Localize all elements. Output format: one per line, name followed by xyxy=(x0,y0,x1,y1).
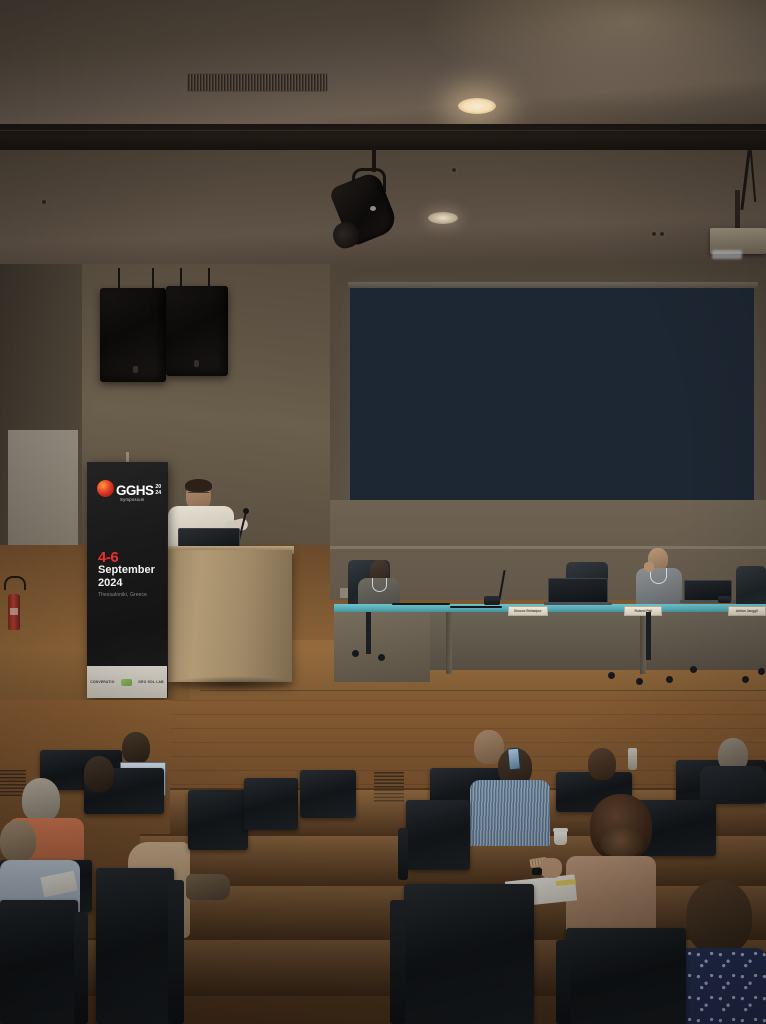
chair-caster xyxy=(608,672,615,679)
pa-speaker-badge xyxy=(194,360,199,367)
banner-sponsor-2-mark xyxy=(121,679,132,686)
banner-sponsor-3: GEO SOL LAB xyxy=(138,680,164,684)
attendee-grey-hair-head xyxy=(22,778,60,822)
banner-logo: GGHS 2024 xyxy=(97,480,161,497)
seat-left-5[interactable] xyxy=(244,778,298,830)
ceiling-fixture-dot xyxy=(652,232,656,236)
podium-shadow xyxy=(168,676,298,692)
seat-front-center[interactable] xyxy=(404,884,534,1024)
attendee-left-back-head xyxy=(122,732,150,764)
speaker-chain xyxy=(180,268,182,288)
chair-caster xyxy=(352,650,359,657)
chair-caster xyxy=(758,668,765,675)
attendee-hand xyxy=(540,858,562,878)
seat-left-4[interactable] xyxy=(188,790,248,850)
banner-logo-year: 2024 xyxy=(155,485,161,496)
panel-laptop-1[interactable] xyxy=(548,578,608,604)
nameplate-3-text: Adrian Jaeggli xyxy=(736,609,758,613)
banner-year: 2024 xyxy=(98,578,122,590)
attendee-woman-bun xyxy=(600,828,644,858)
coffee-cup-icon[interactable] xyxy=(554,830,567,845)
seat-arm xyxy=(168,880,184,1024)
chair-caster xyxy=(636,678,643,685)
speaker-chain xyxy=(118,268,120,290)
nameplate-1-text: Simone Bettadpur xyxy=(514,609,542,613)
table-cable xyxy=(392,603,450,605)
nameplate-3: Adrian Jaeggli xyxy=(728,606,766,616)
projector-lens xyxy=(712,250,742,259)
nameplate-1: Simone Bettadpur xyxy=(508,606,548,616)
recessed-downlight-small-icon xyxy=(428,212,458,224)
wristwatch-icon xyxy=(532,868,542,875)
table-cable xyxy=(450,606,502,608)
chair-caster xyxy=(690,666,697,673)
chair-caster xyxy=(742,676,749,683)
ceiling-glow xyxy=(420,0,766,110)
attendee-left-mid-head xyxy=(84,756,114,792)
pa-speaker-badge xyxy=(133,366,138,373)
table-microphone-2-icon[interactable] xyxy=(718,596,731,603)
ceiling-fixture-dot xyxy=(42,200,46,204)
attendee-woman-shoulder xyxy=(566,856,656,938)
projection-screen: Methodology – set-up of functional model… xyxy=(350,288,754,536)
nameplate-2: Roland Pail xyxy=(624,606,662,616)
seat-arm xyxy=(556,940,570,1024)
banner-month: September xyxy=(98,565,155,577)
conference-banner: GGHS 2024 Symposium 4-6 September 2024 T… xyxy=(87,462,167,698)
panel-laptop-1-base xyxy=(544,602,612,605)
chair-post xyxy=(646,612,651,660)
recessed-downlight-icon xyxy=(458,98,496,114)
attendee-shoe xyxy=(186,874,230,900)
banner-sponsor-1: CONVERATIO xyxy=(90,680,114,684)
seat-left-6[interactable] xyxy=(300,770,356,818)
gghs-globe-icon xyxy=(97,480,114,497)
banner-location: Thessaloniki, Greece xyxy=(98,592,147,598)
seat-front-right[interactable] xyxy=(566,928,686,1024)
chair-post xyxy=(366,612,371,654)
speaker-chain xyxy=(208,268,210,288)
attendee-mid-right-head xyxy=(588,748,616,780)
podium xyxy=(168,550,292,682)
banner-pole xyxy=(126,452,129,462)
spotlight-highlight xyxy=(370,206,376,211)
chair-caster xyxy=(378,654,385,661)
panel-wall-rail xyxy=(330,546,766,549)
banner-subtitle: Symposium xyxy=(120,497,145,502)
presenter-glasses-icon xyxy=(188,492,209,496)
ceiling-fixture-dot xyxy=(452,168,456,172)
water-bottle-icon[interactable] xyxy=(628,748,637,770)
chair-caster xyxy=(666,676,673,683)
banner-sponsor-strip: CONVERATIO GEO SOL LAB xyxy=(87,666,167,698)
fire-extinguisher-handle xyxy=(4,576,26,590)
seat-arm xyxy=(74,912,88,1024)
seat-arm xyxy=(398,828,408,880)
attendee-blue-shirt-head xyxy=(0,820,36,862)
seat-arm xyxy=(390,900,406,1024)
smartphone-icon[interactable] xyxy=(507,748,521,771)
seat-left-3[interactable] xyxy=(96,868,174,1024)
banner-logo-text: GGHS xyxy=(116,484,153,498)
presenter-hair xyxy=(185,479,212,492)
attendee-floral-head xyxy=(686,880,752,954)
speaker-chain xyxy=(152,268,154,290)
wall-panel xyxy=(8,430,78,550)
panelist-hand xyxy=(644,562,654,572)
lecture-hall-photo: Methodology – set-up of functional model… xyxy=(0,0,766,1024)
seat-right-1[interactable] xyxy=(406,800,470,870)
coffee-cup-lid xyxy=(553,828,568,832)
panel-table-end-panel xyxy=(334,612,430,682)
projector-mount xyxy=(735,190,740,230)
seat-front-left[interactable] xyxy=(0,900,78,1024)
attendee-bald-body xyxy=(700,766,766,802)
podium-microphone-icon[interactable] xyxy=(243,508,249,514)
table-microphone-icon[interactable] xyxy=(484,596,500,605)
panelist-lanyard-left xyxy=(372,578,387,592)
air-vent-icon xyxy=(187,73,328,92)
panel-table-leg xyxy=(446,612,452,674)
fire-extinguisher-label xyxy=(10,608,18,615)
banner-dates: 4-6 xyxy=(98,550,118,565)
ceiling-fixture-dot xyxy=(660,232,664,236)
attendee-striped-shirt-body xyxy=(470,780,550,846)
